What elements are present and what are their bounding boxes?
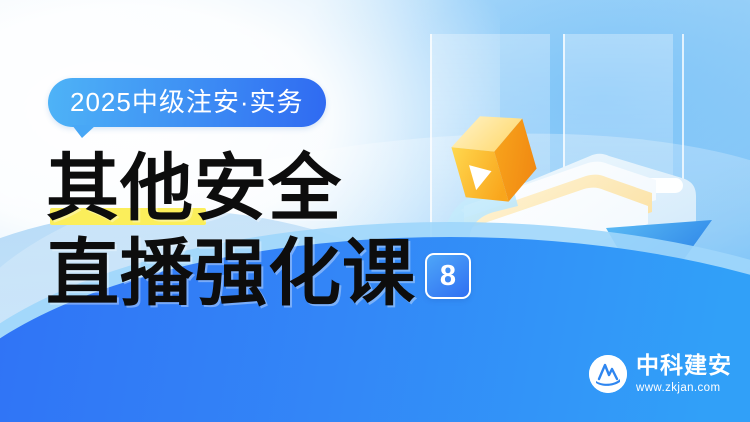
brand-logo: 中科建安 www.zkjan.com [589, 355, 732, 395]
headline-block: 其他安全 直播强化课 8 [46, 146, 471, 316]
headline-line-1: 其他安全 [46, 146, 471, 230]
brand-url: www.zkjan.com [636, 383, 732, 395]
course-banner: 2025中级注安·实务 其他安全 直播强化课 8 中科建安 www.zkjan.… [0, 0, 750, 422]
headline-text-1: 其他安全 [46, 146, 471, 230]
brand-logo-icon [589, 355, 627, 393]
course-tag: 2025中级注安·实务 [48, 78, 326, 127]
course-tag-tail [72, 125, 96, 138]
headline-text-2: 直播强化课 [46, 231, 416, 315]
brand-name: 中科建安 [636, 355, 732, 378]
brand-logo-text: 中科建安 www.zkjan.com [636, 355, 732, 395]
course-tag-label: 2025中级注安·实务 [48, 78, 326, 127]
episode-badge: 8 [425, 253, 471, 299]
headline-line-2: 直播强化课 8 [46, 230, 471, 316]
